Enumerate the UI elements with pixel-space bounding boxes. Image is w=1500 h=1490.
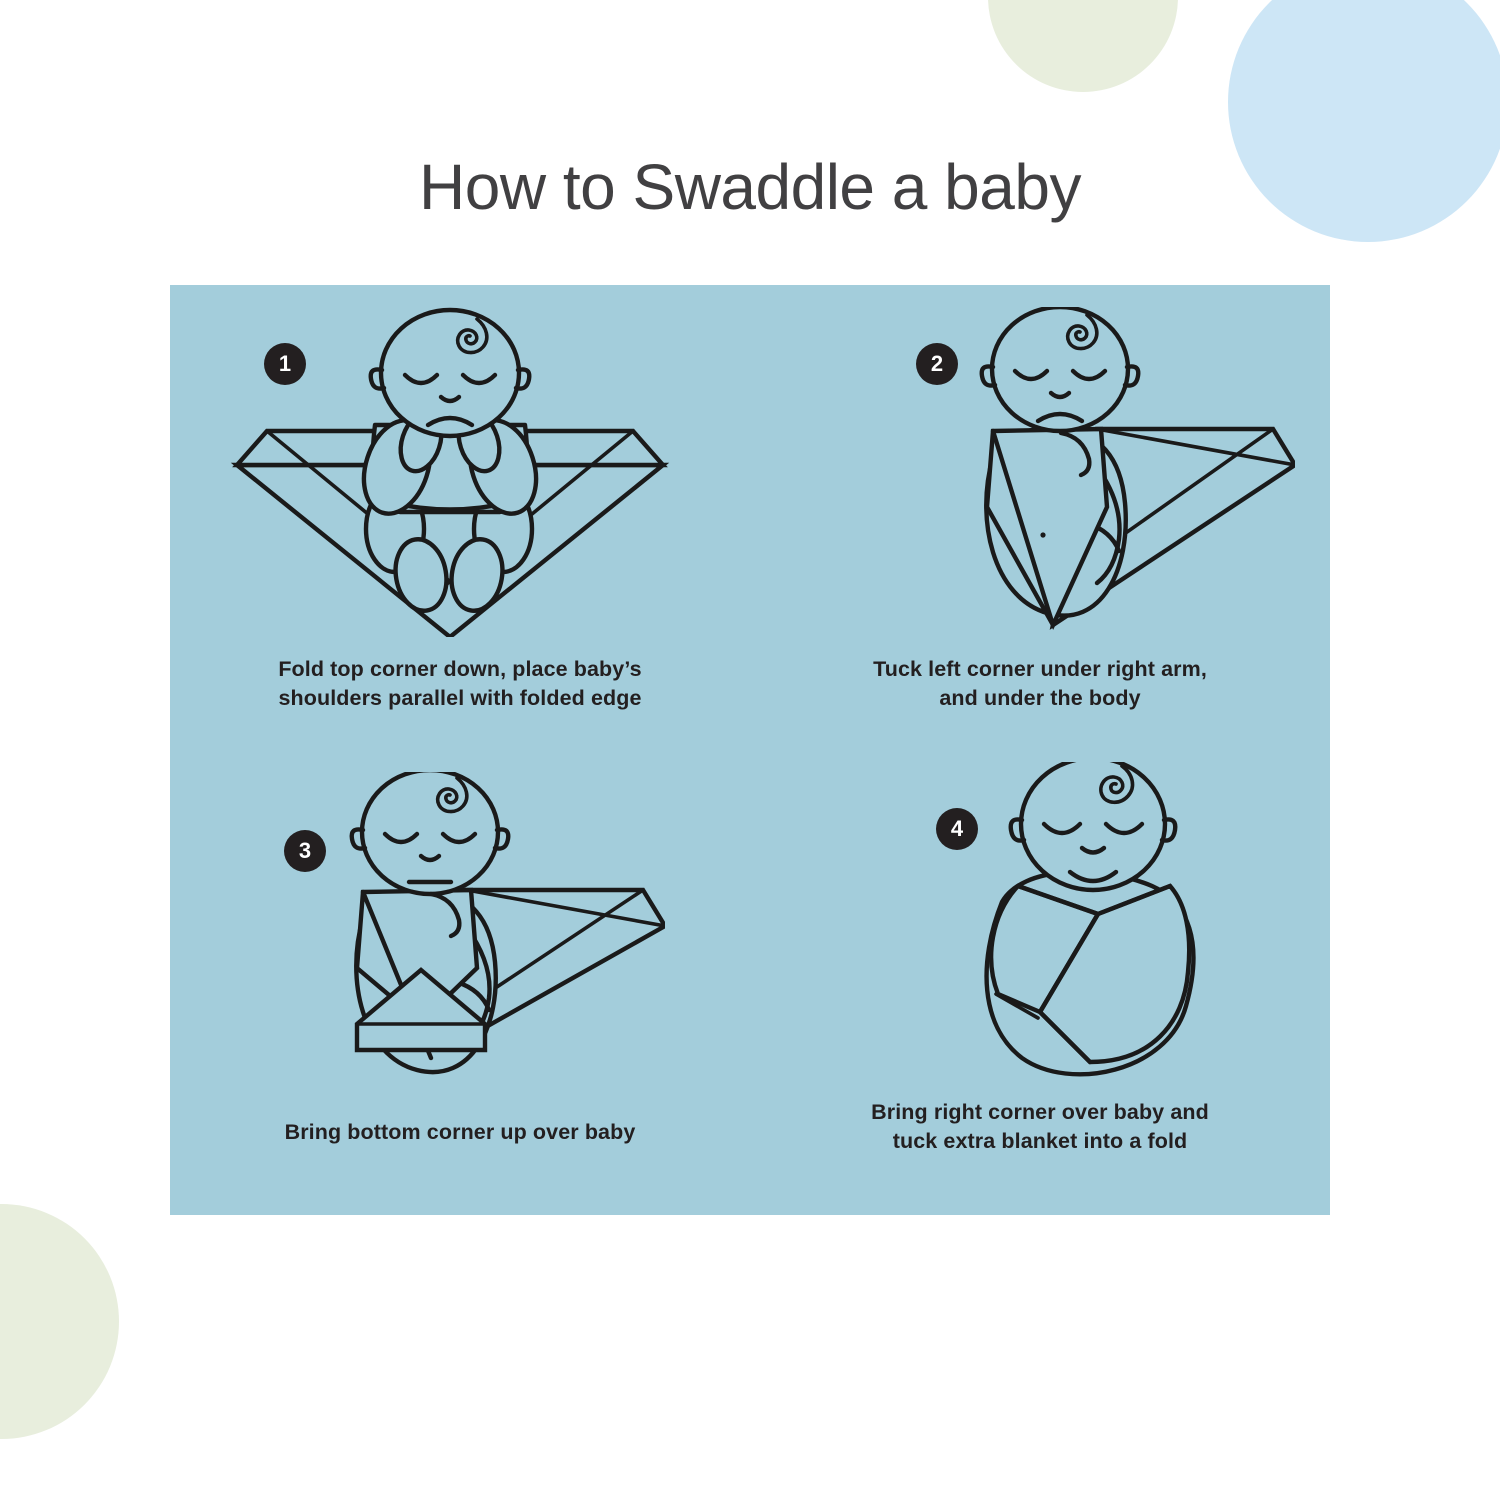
step-cell-3: 3 xyxy=(170,750,750,1215)
step-badge-4: 4 xyxy=(936,808,978,850)
step-caption-1-line1: Fold top corner down, place baby’s xyxy=(170,655,750,684)
step-caption-1: Fold top corner down, place baby’s shoul… xyxy=(170,655,750,712)
step-caption-3: Bring bottom corner up over baby xyxy=(170,1118,750,1147)
step-cell-1: 1 xyxy=(170,285,750,750)
step-caption-3-line1: Bring bottom corner up over baby xyxy=(170,1118,750,1147)
decor-blob-green-bottom xyxy=(0,1204,119,1439)
step-badge-2: 2 xyxy=(916,343,958,385)
step-badge-1: 1 xyxy=(264,343,306,385)
step-caption-4: Bring right corner over baby and tuck ex… xyxy=(750,1098,1330,1155)
step-cell-4: 4 xyxy=(750,750,1330,1215)
step-cell-2: 2 xyxy=(750,285,1330,750)
step-caption-4-line2: tuck extra blanket into a fold xyxy=(750,1127,1330,1156)
steps-board: 1 xyxy=(170,285,1330,1215)
illustration-step-4 xyxy=(930,762,1260,1082)
decor-blob-green-top xyxy=(988,0,1178,92)
step-caption-2-line1: Tuck left corner under right arm, xyxy=(750,655,1330,684)
illustration-step-3 xyxy=(245,772,665,1092)
step-badge-3: 3 xyxy=(284,830,326,872)
step-caption-2-line2: and under the body xyxy=(750,684,1330,713)
step-caption-4-line1: Bring right corner over baby and xyxy=(750,1098,1330,1127)
step-caption-2: Tuck left corner under right arm, and un… xyxy=(750,655,1330,712)
page-title: How to Swaddle a baby xyxy=(0,150,1500,224)
step-caption-1-line2: shoulders parallel with folded edge xyxy=(170,684,750,713)
